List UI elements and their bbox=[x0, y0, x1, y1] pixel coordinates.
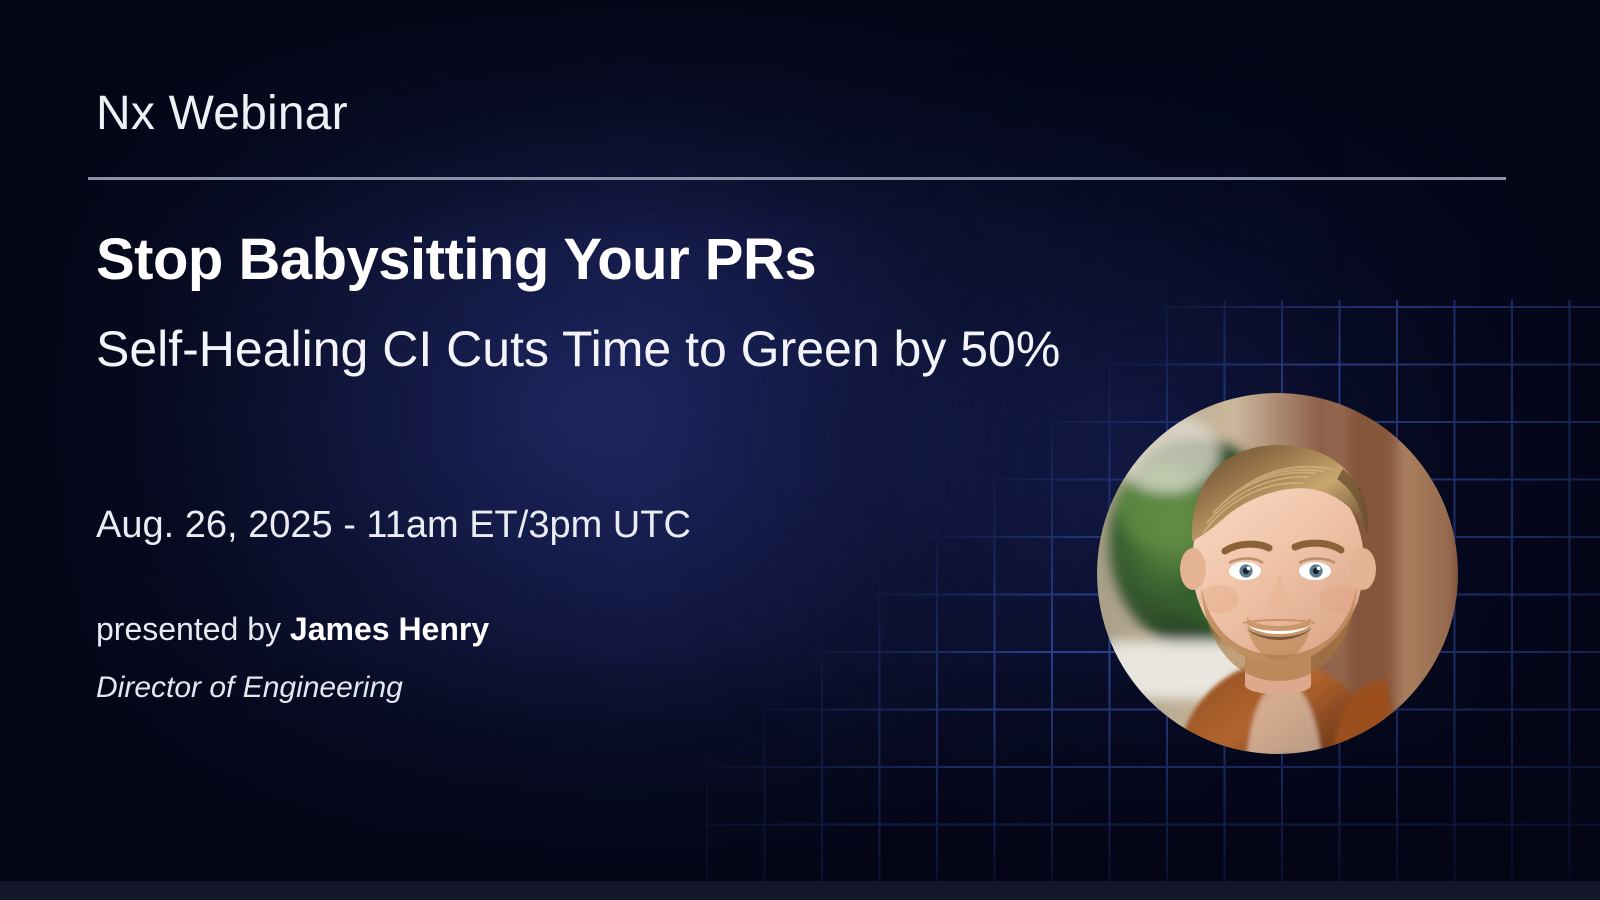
brand-eyebrow: Nx Webinar bbox=[96, 88, 348, 141]
presenter-line: presented by James Henry bbox=[96, 608, 489, 651]
webinar-promo-card: Nx Webinar Stop Babysitting Your PRs Sel… bbox=[0, 0, 1600, 900]
header-divider bbox=[88, 177, 1506, 180]
webinar-datetime: Aug. 26, 2025 - 11am ET/3pm UTC bbox=[96, 503, 691, 549]
presenter-name: James Henry bbox=[290, 611, 489, 647]
content-column: Nx Webinar Stop Babysitting Your PRs Sel… bbox=[96, 0, 1146, 900]
page-subtitle: Self-Healing CI Cuts Time to Green by 50… bbox=[96, 313, 1106, 385]
presenter-role: Director of Engineering bbox=[96, 668, 403, 709]
avatar bbox=[1097, 393, 1458, 754]
page-title: Stop Babysitting Your PRs bbox=[96, 228, 816, 293]
bottom-strip bbox=[0, 881, 1600, 900]
avatar-photo bbox=[1097, 393, 1458, 754]
presented-by-label: presented by bbox=[96, 611, 290, 647]
